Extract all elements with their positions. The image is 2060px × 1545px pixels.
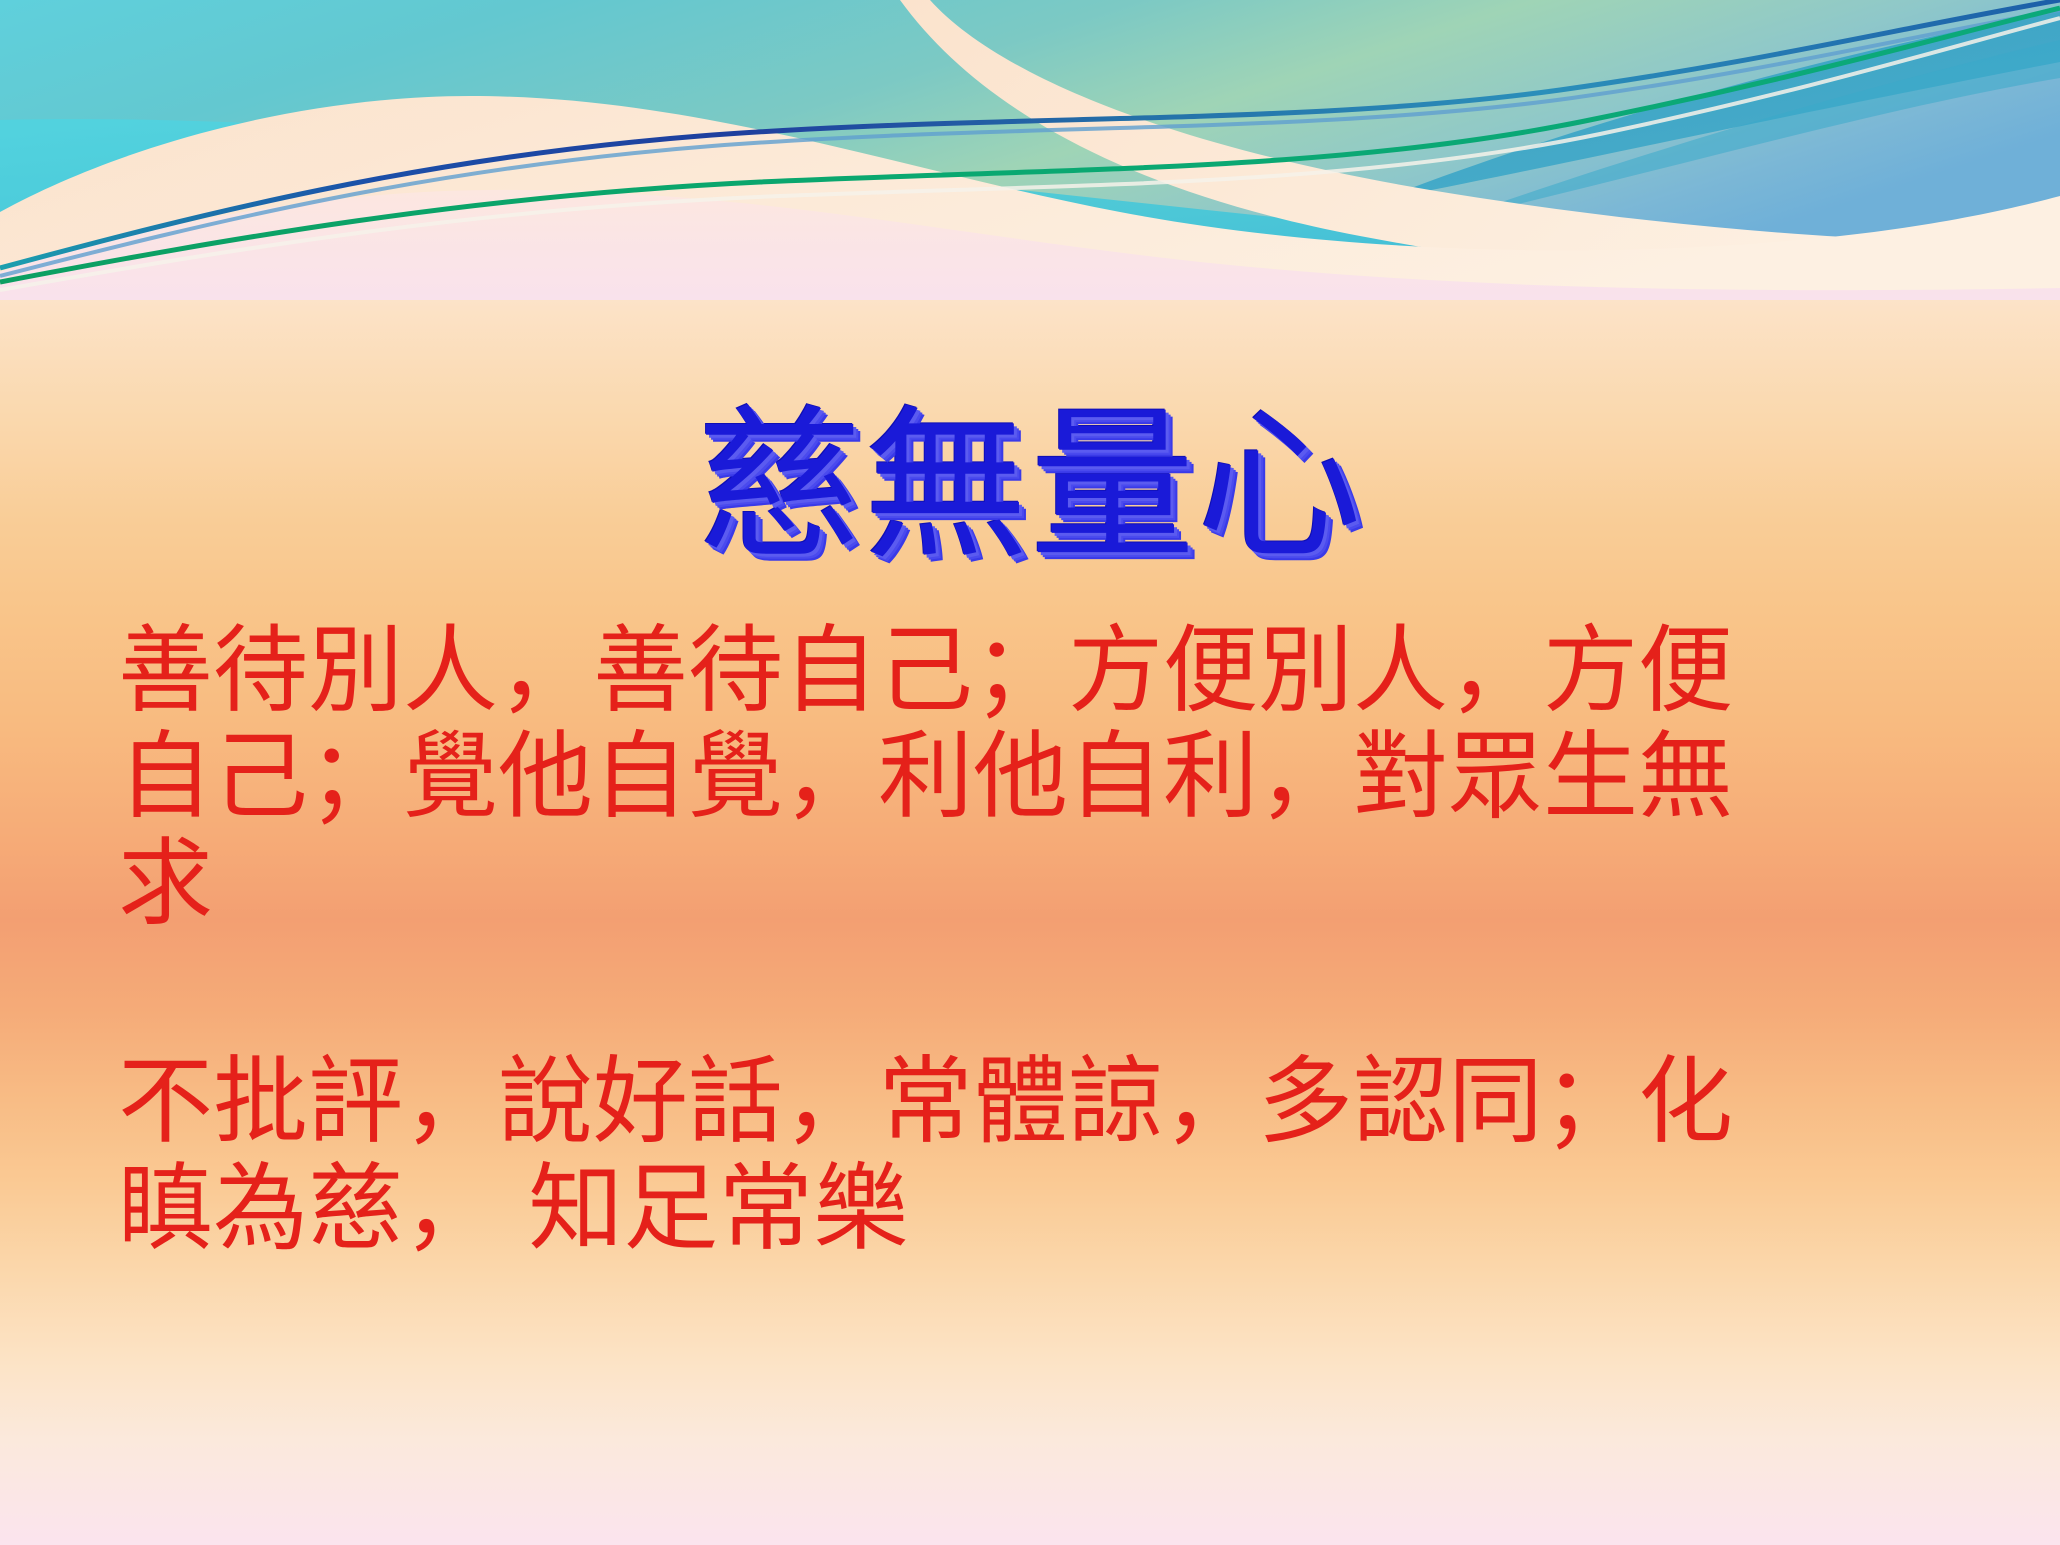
slide-body-text: 善待別人，善待自己；方便別人，方便自己；覺他自覺，利他自利，對眾生無求 不批評，… [118,618,1818,1262]
slide-content: 慈無量心 善待別人，善待自己；方便別人，方便自己；覺他自覺，利他自利，對眾生無求… [0,0,2060,1545]
body-paragraph-1: 善待別人，善待自己；方便別人，方便自己；覺他自覺，利他自利，對眾生無求 [118,618,1818,937]
paragraph-spacer [118,937,1818,1049]
page-title: 慈無量心 [0,400,2060,573]
presentation-slide: 慈無量心 善待別人，善待自己；方便別人，方便自己；覺他自覺，利他自利，對眾生無求… [0,0,2060,1545]
body-paragraph-2: 不批評，說好話，常體諒，多認同；化瞋為慈， 知足常樂 [118,1049,1818,1262]
